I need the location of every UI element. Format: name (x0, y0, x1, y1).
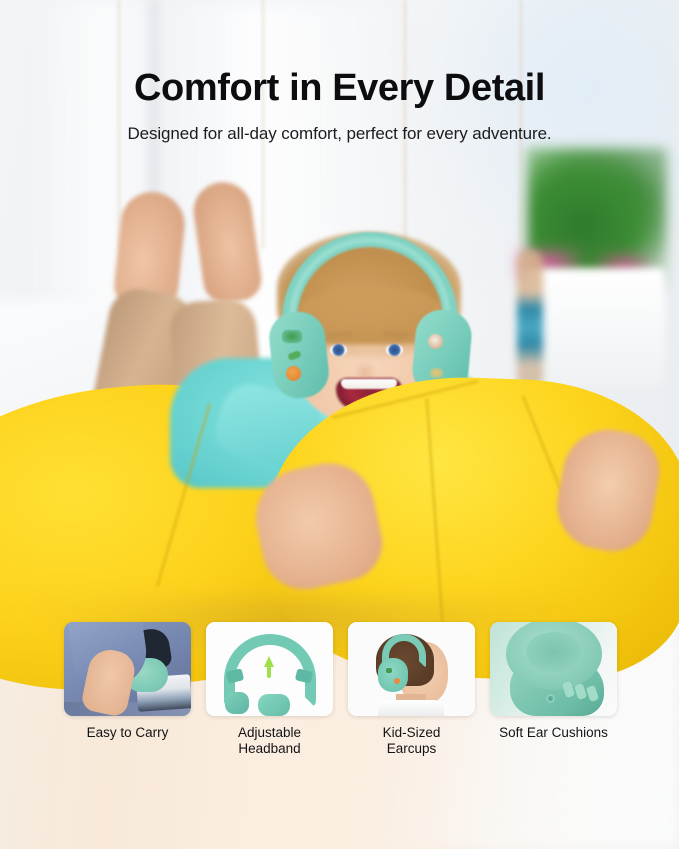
feature-caption: Kid-Sized Earcups (348, 725, 475, 758)
child-nose (354, 360, 376, 378)
feature-item-kid-sized-earcups[interactable]: Kid-Sized Earcups (348, 622, 475, 758)
planet-sticker (286, 366, 301, 381)
feature-item-adjustable-headband[interactable]: Adjustable Headband (206, 622, 333, 758)
feature-thumbnail-kid-profile[interactable] (348, 622, 475, 716)
feature-item-easy-to-carry[interactable]: Easy to Carry (64, 622, 191, 758)
dinosaur-sticker (386, 668, 392, 673)
adjust-arrow-icon (267, 666, 271, 678)
product-feature-banner: Comfort in Every Detail Designed for all… (0, 0, 679, 849)
page-title: Comfort in Every Detail (0, 68, 679, 110)
feature-caption: Adjustable Headband (206, 725, 333, 758)
earcup (225, 692, 249, 714)
child-eye (330, 344, 347, 356)
planet-sticker (394, 678, 400, 684)
feature-thumbnail-headband[interactable] (206, 622, 333, 716)
rocket-sticker (428, 334, 443, 349)
feature-item-soft-ear-cushions[interactable]: Soft Ear Cushions (490, 622, 617, 758)
child-shirt (378, 700, 444, 716)
audio-port (546, 694, 555, 703)
white-plant-pot (525, 268, 665, 388)
feature-caption: Soft Ear Cushions (490, 725, 617, 741)
star-sticker (430, 368, 443, 378)
dinosaur-sticker (282, 330, 302, 343)
feature-caption: Easy to Carry (64, 725, 191, 741)
cushion-opening (526, 632, 582, 672)
earcup (258, 694, 290, 716)
teal-toy (517, 250, 543, 390)
feature-thumbnail-ear-cushion[interactable] (490, 622, 617, 716)
headline-block: Comfort in Every Detail Designed for all… (0, 68, 679, 144)
feature-list: Easy to Carry Adjustable Headband (64, 622, 617, 758)
page-subtitle: Designed for all-day comfort, perfect fo… (0, 124, 679, 144)
feature-thumbnail-backpack[interactable] (64, 622, 191, 716)
child-eye (386, 344, 403, 356)
earcup (378, 658, 408, 692)
